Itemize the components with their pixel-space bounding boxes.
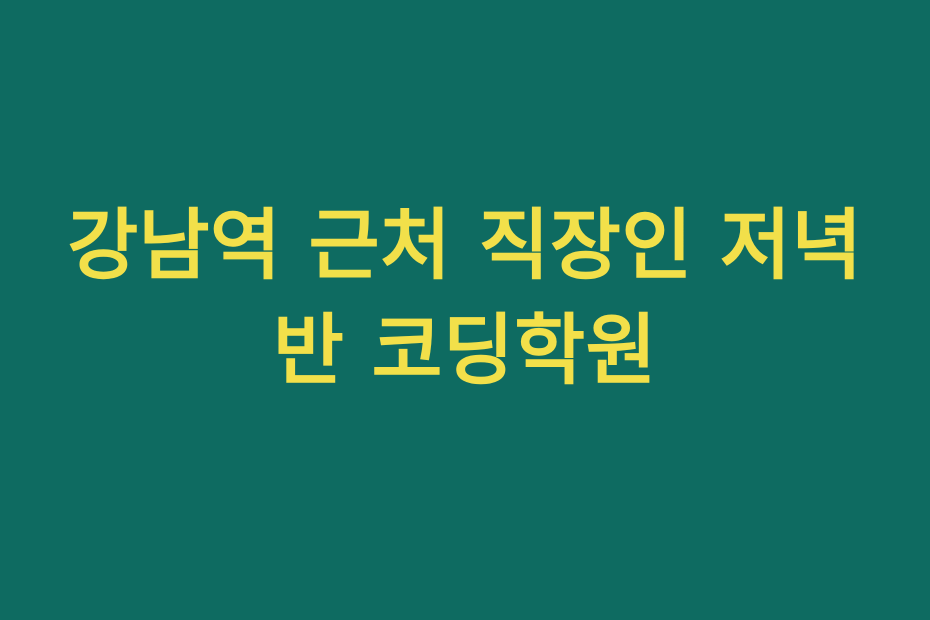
- headline-line-1: 강남역 근처 직장인 저녁: [0, 194, 930, 299]
- title-card: 강남역 근처 직장인 저녁 반 코딩학원: [0, 0, 930, 620]
- headline-line-2: 반 코딩학원: [0, 299, 930, 404]
- headline-block: 강남역 근처 직장인 저녁 반 코딩학원: [0, 194, 930, 404]
